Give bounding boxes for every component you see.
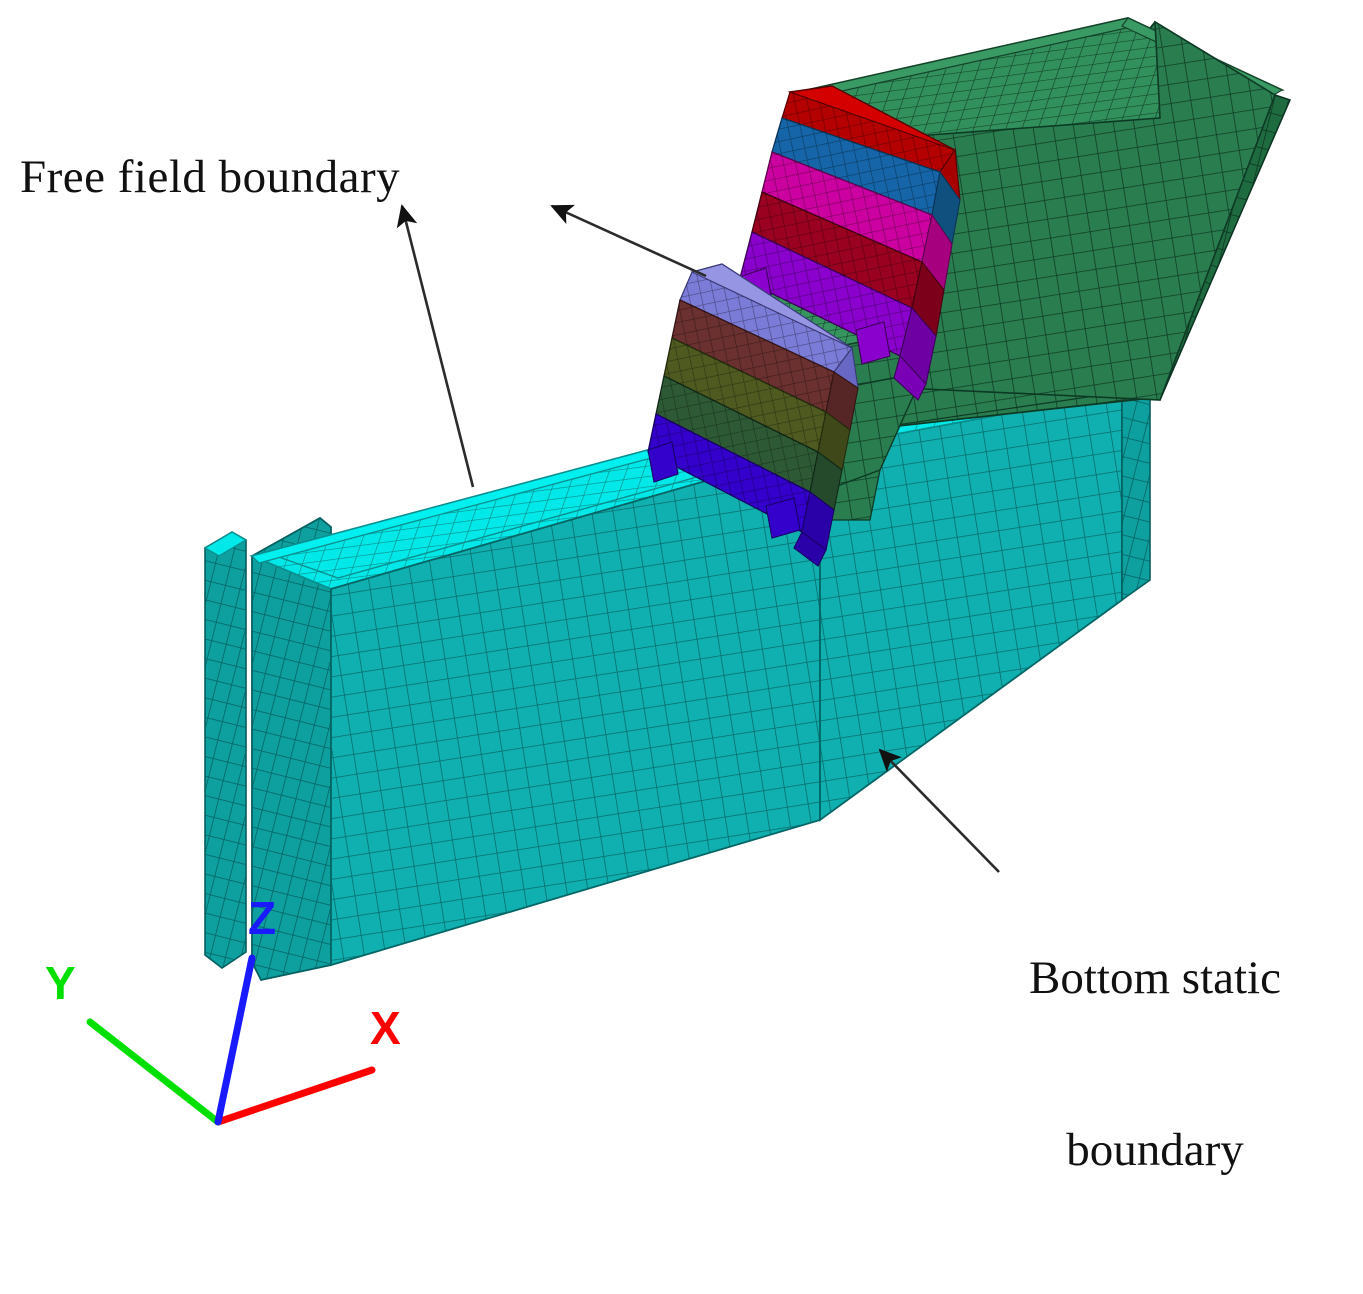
axis-z-line — [218, 958, 252, 1122]
axis-z-label: Z — [248, 895, 276, 941]
axis-y-line — [90, 1022, 218, 1122]
leader-free-field-2 — [552, 206, 706, 276]
axis-y-label: Y — [45, 960, 76, 1006]
bottom-static-boundary-line2: boundary — [955, 1122, 1355, 1179]
axis-triad — [90, 958, 372, 1122]
axis-x-label: X — [370, 1005, 401, 1051]
bottom-static-boundary-label: Bottom static boundary — [955, 835, 1355, 1294]
free-field-slab-left-rear — [205, 532, 246, 968]
figure-canvas: Free field boundary Bottom static bounda… — [0, 0, 1363, 1149]
cyan-right-end-face — [1122, 392, 1150, 600]
axis-x-line — [218, 1070, 372, 1122]
bottom-static-boundary-line1: Bottom static — [955, 950, 1355, 1007]
free-field-boundary-label: Free field boundary — [20, 150, 400, 204]
leader-free-field-1 — [402, 206, 473, 487]
